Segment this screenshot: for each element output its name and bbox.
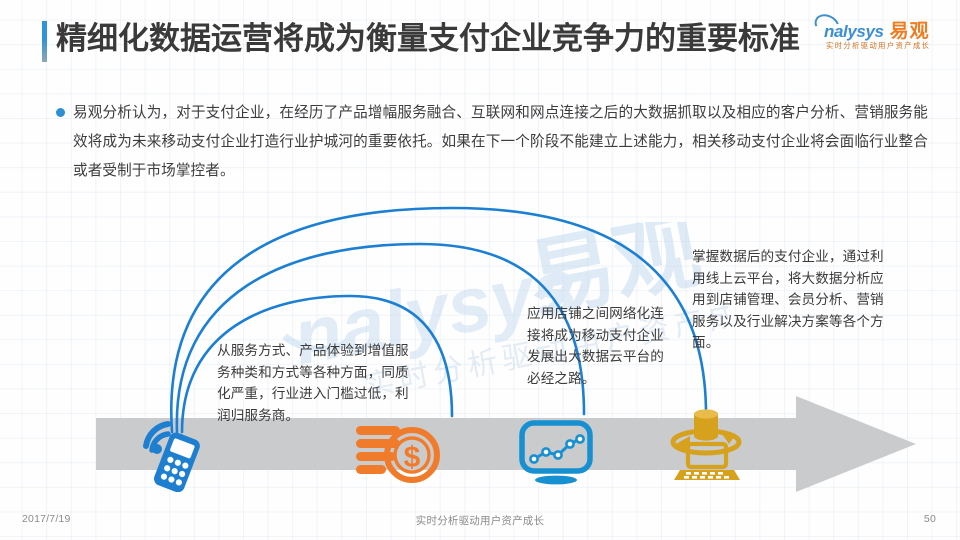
page-title: 精细化数据运营将成为衡量支付企业竞争力的重要标准 <box>56 17 800 61</box>
body-paragraph: 易观分析认为，对于支付企业，在经历了产品增幅服务融合、互联网和网点连接之后的大数… <box>73 99 928 186</box>
laptop-database-sync-icon <box>660 406 752 486</box>
bullet-point-icon <box>56 108 65 117</box>
logo-wordmark: nalysys 易观 <box>812 14 930 42</box>
svg-text:$: $ <box>404 441 421 474</box>
logo-tagline: 实时分析驱动用户资产成长 <box>826 41 930 51</box>
callout-text-2: 应用店铺之间网络化连接将成为移动支付企业发展出大数据云平台的必经之路。 <box>527 303 675 389</box>
callout-text-1: 从服务方式、产品体验到增值服务种类和方式等各种方面，同质化严重，行业进入门槛过低… <box>217 340 412 426</box>
logo-text-cn: 易观 <box>890 22 930 42</box>
callout-text-3: 掌握数据后的支付企业，通过利用线上云平台，将大数据分析应用到店铺管理、会员分析、… <box>692 246 886 354</box>
title-accent-bar <box>42 21 47 62</box>
mobile-phone-icon <box>136 416 206 492</box>
monitor-linechart-icon <box>516 420 596 486</box>
footer-divider <box>0 503 960 504</box>
analysys-logo: nalysys 易观 实时分析驱动用户资产成长 <box>812 14 946 58</box>
coins-dollar-icon: $ <box>352 421 444 485</box>
footer-page-number: 50 <box>924 513 936 525</box>
slide-canvas: nalysys 易观 实时分析驱动用户资产成长 精细化数据运营将成为衡量支付企业… <box>0 0 960 540</box>
footer-center-text: 实时分析驱动用户资产成长 <box>0 513 960 528</box>
